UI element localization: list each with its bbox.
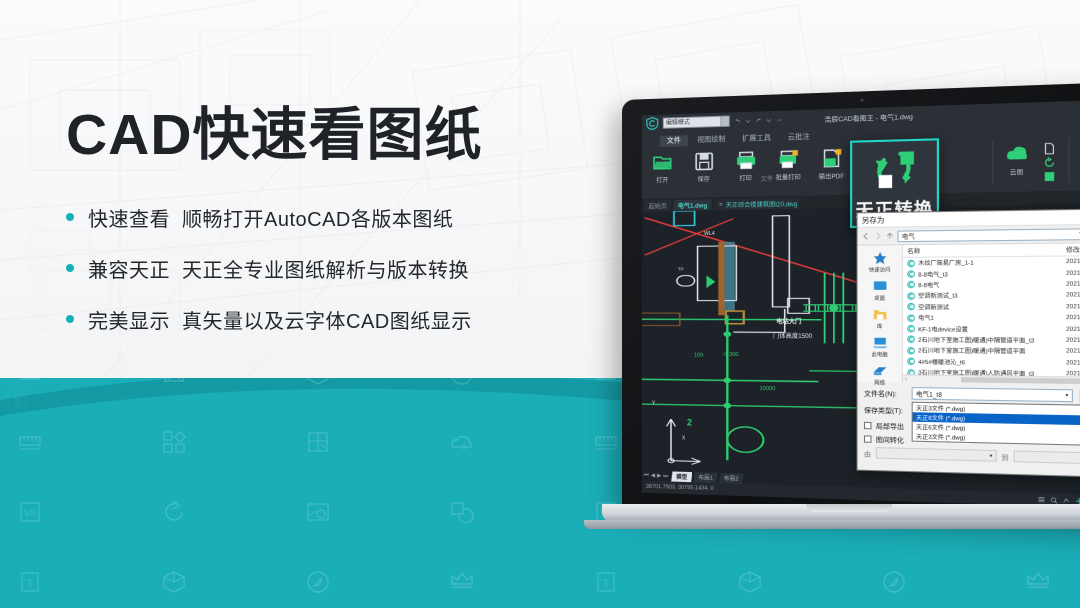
bullet-dot-icon (66, 264, 74, 272)
file-name: KF-1电device设置 (918, 325, 1066, 334)
grid-icon[interactable] (1037, 496, 1045, 504)
polyline-icon[interactable] (1063, 496, 1071, 504)
file-name: 8-8电气_t3 (918, 269, 1066, 278)
table-row[interactable]: 空调新测试_t3 2021/4/6 14:45 (903, 290, 1080, 301)
dialog-nav-row: 电气 ▾ (858, 224, 1080, 244)
sidebar-library-label: 库 (877, 323, 882, 330)
redo-icon[interactable] (755, 117, 761, 123)
sidebar-item-network[interactable]: 网络 (858, 363, 902, 387)
file-name: 电气1 (918, 314, 1066, 323)
layout-tab-2[interactable]: 布局2 (719, 473, 744, 484)
sidebar-item-library[interactable]: 库 (858, 307, 902, 330)
file-name: 4#5#楼暖池沁_t6 (918, 357, 1066, 367)
sidebar-this-pc-label: 此电脑 (871, 351, 887, 358)
filename-value: 电气1_t8 (916, 389, 942, 399)
filename-input[interactable]: 电气1_t8 ▾ (912, 387, 1073, 402)
chevron-down-icon[interactable]: ▾ (990, 453, 993, 459)
file-date: 2021/3/22 17:06 (1066, 349, 1080, 356)
cloud-small-buttons[interactable] (1040, 138, 1059, 183)
dwg-file-icon (907, 281, 915, 288)
bullet-dot-icon (66, 213, 74, 221)
undo-caret-icon[interactable] (745, 117, 751, 123)
save-disk-icon (692, 151, 714, 173)
tab-start-page-label: 起始页 (649, 201, 667, 210)
more-icon[interactable] (776, 116, 782, 122)
range-from-label: 由 (864, 447, 871, 458)
file-name: 空调新测试_t3 (918, 291, 1066, 300)
dialog-title: 另存为 (862, 215, 885, 226)
file-name: 8-8电气 (918, 280, 1066, 289)
forward-icon[interactable] (874, 232, 883, 240)
list-item: 快速查看 顺畅打开AutoCAD各版本图纸 (66, 203, 586, 232)
ribbon-group-window: 窗口转换 窗口全部关闭 (1068, 134, 1080, 182)
dialog-sidebar[interactable]: 快速访问 桌面 库 (858, 245, 903, 382)
filetype-dropdown[interactable]: 天正3文件 (*.dwg) 天正8文件 (*.dwg) 天正6文件 (*.dwg… (912, 402, 1080, 446)
laptop-lid: 编辑模式 浩辰CAD看图王 - 电气1.dwg 文件 视图 (622, 82, 1080, 526)
convert-label: 图间转化 (876, 434, 904, 445)
list-item: 完美显示 真矢量以及云字体CAD图纸显示 (66, 305, 586, 334)
svg-text:T: T (14, 395, 21, 407)
laptop-foot (584, 520, 1080, 529)
table-row[interactable]: 空调新测试 2021/4/6 14:43 (903, 301, 1080, 312)
library-folder-icon (872, 307, 887, 322)
file-name: 空调新测试 (918, 303, 1066, 312)
sidebar-item-this-pc[interactable]: 此电脑 (858, 335, 902, 358)
filetype-label: 保存类型(T): (864, 404, 912, 415)
batch-print-icon (777, 148, 800, 170)
file-list[interactable]: 名称 修改日期 木纹厂简易厂房_1-1 2021/5/8 13:27 (903, 243, 1080, 386)
excel-icon[interactable] (1043, 171, 1056, 183)
quick-access-toolbar[interactable] (735, 116, 783, 124)
dwg-file-icon (907, 303, 915, 310)
file-date: 2021/4/9 8:41 (1066, 270, 1080, 277)
table-row[interactable]: 电气1 2021/4/1 18:14 (903, 312, 1080, 324)
doc-icon[interactable] (1043, 143, 1056, 155)
list-item: 兼容天正 天正全专业图纸解析与版本转换 (66, 254, 586, 283)
sidebar-network-label: 网络 (874, 379, 885, 386)
dwg-file-icon (907, 314, 915, 321)
file-date: 2021/5/8 13:27 (1066, 258, 1080, 265)
sidebar-desktop-label: 桌面 (874, 295, 885, 302)
checkbox-icon[interactable] (864, 421, 872, 428)
file-name: 2石川地下室施工图)暖通)中隔管道平面 (918, 346, 1066, 356)
file-name: 木纹厂简易厂房_1-1 (918, 258, 1066, 268)
tab-tianzheng-building[interactable]: ✕ 天正综合楼建筑图t20.dwg (713, 197, 802, 210)
feature-lead: 完美显示 (88, 305, 170, 334)
undo-icon[interactable] (735, 118, 741, 124)
cloud-button[interactable]: 云图 (993, 139, 1039, 184)
tab-dianqi1[interactable]: 电气1.dwg (673, 199, 712, 211)
table-row[interactable]: 木纹厂简易厂房_1-1 2021/5/8 13:27 (903, 256, 1080, 269)
chevron-down-icon[interactable]: ▾ (1065, 392, 1068, 399)
file-name: 2石川地下室施工图)暖通)中隔管道平面_t3 (918, 335, 1066, 344)
webcam-icon (860, 99, 863, 102)
coordinates-readout: 38701.7903, 30795.1434, 0 (646, 484, 714, 492)
ribbon-group-cloud: 云图 (992, 138, 1059, 183)
export-pdf-icon (820, 147, 843, 169)
dwg-file-icon (907, 347, 915, 354)
file-date: 2021/3/23 13:59 (1066, 326, 1080, 333)
dwg-file-icon (907, 336, 915, 343)
feature-lead: 快速查看 (88, 203, 170, 232)
menu-item-file[interactable]: 文件 (660, 135, 688, 147)
range-to-label: 到 (1001, 451, 1008, 462)
printer-icon (734, 149, 757, 171)
marketing-copy: CAD快速看图纸 快速查看 顺畅打开AutoCAD各版本图纸 兼容天正 天正全专… (66, 104, 586, 356)
feature-lead: 兼容天正 (88, 254, 170, 283)
feature-text: 顺畅打开AutoCAD各版本图纸 (182, 203, 453, 232)
file-date: 2021/4/6 14:45 (1066, 292, 1080, 299)
feature-text: 天正全专业图纸解析与版本转换 (182, 254, 469, 283)
address-bar[interactable]: 电气 ▾ (897, 228, 1080, 242)
bullet-dot-icon (66, 315, 74, 323)
scrollbar-thumb[interactable] (961, 377, 1080, 384)
sidebar-item-desktop[interactable]: 桌面 (858, 279, 902, 302)
dwg-file-icon (907, 270, 915, 277)
redo-caret-icon[interactable] (766, 117, 772, 123)
feature-text: 真矢量以及云字体CAD图纸显示 (182, 305, 472, 334)
save-as-dialog[interactable]: 另存为 — ▫ ✕ 电气 (856, 208, 1080, 479)
dwg-file-icon (907, 292, 915, 299)
cloud-label: 云图 (1010, 167, 1024, 177)
zoom-icon[interactable] (1050, 496, 1058, 504)
range-from-input[interactable]: ▾ (875, 447, 997, 462)
sidebar-item-quick-access[interactable]: 快速访问 (858, 250, 902, 273)
column-date[interactable]: 修改日期 (1066, 244, 1080, 254)
sidebar-quick-access-label: 快速访问 (869, 266, 891, 273)
desktop-icon (872, 279, 887, 294)
layout-tab-1[interactable]: 布局1 (693, 472, 717, 483)
scroll-left-icon[interactable]: ‹ (905, 376, 907, 382)
next-tab-icon[interactable]: ▶ (657, 473, 661, 480)
address-value: 电气 (902, 231, 915, 241)
tab-tianzheng-building-label: 天正综合楼建筑图t20.dwg (726, 198, 798, 208)
file-list-header: 名称 修改日期 (903, 243, 1080, 258)
layout-tab-model[interactable]: 模型 (671, 471, 692, 482)
network-icon (872, 364, 887, 379)
first-tab-icon[interactable]: ⏮ (644, 472, 649, 479)
batch-export-label: 局部导出 (876, 420, 904, 431)
checkbox-icon[interactable] (864, 435, 872, 442)
up-icon[interactable] (886, 232, 895, 240)
banner-stage: VS T (0, 0, 1080, 608)
cad-application: 编辑模式 浩辰CAD看图王 - 电气1.dwg 文件 视图 (642, 100, 1080, 509)
back-icon[interactable] (862, 232, 871, 240)
prev-tab-icon[interactable]: ◀ (651, 472, 655, 479)
filename-row: 文件名(N): 电气1_t8 ▾ 保存 (864, 386, 1080, 403)
file-rows[interactable]: 木纹厂简易厂房_1-1 2021/5/8 13:27 8-8电气_t3 2021… (903, 256, 1080, 377)
file-date: 2021/3/22 17:07 (1066, 337, 1080, 344)
app-logo-icon (646, 117, 659, 130)
table-row[interactable]: 8-8电气 2021/4/9 8:39 (903, 279, 1080, 291)
dwg-file-icon (907, 325, 915, 332)
tab-start-page[interactable]: 起始页 (644, 200, 672, 212)
laptop-notch (806, 504, 892, 512)
laptop-mockup: 编辑模式 浩辰CAD看图王 - 电气1.dwg 文件 视图 (610, 100, 1080, 540)
laptop-screen: 编辑模式 浩辰CAD看图王 - 电气1.dwg 文件 视图 (642, 100, 1080, 509)
close-icon[interactable]: ✕ (718, 201, 723, 208)
page-title: CAD快速看图纸 (66, 104, 586, 167)
star-icon (872, 251, 887, 266)
folder-open-icon (651, 152, 673, 174)
filename-label: 文件名(N): (864, 387, 912, 398)
file-date: 2021/4/1 18:14 (1066, 315, 1080, 322)
dialog-body: 快速访问 桌面 库 (858, 242, 1080, 386)
last-tab-icon[interactable]: ⏭ (663, 473, 668, 480)
column-name[interactable]: 名称 (907, 245, 1066, 256)
convert-arrows-icon (869, 147, 919, 192)
dwg-file-icon (907, 358, 915, 365)
layout-nav-buttons[interactable]: ⏮ ◀ ▶ ⏭ (644, 472, 668, 480)
table-row[interactable]: 8-8电气_t3 2021/4/9 8:41 (903, 267, 1080, 279)
file-date: 2021/4/6 14:43 (1066, 304, 1080, 311)
feature-list: 快速查看 顺畅打开AutoCAD各版本图纸 兼容天正 天正全专业图纸解析与版本转… (66, 203, 586, 334)
this-pc-icon (872, 335, 887, 350)
file-date: 2021/3/22 16:59 (1066, 360, 1080, 367)
file-date: 2021/4/9 8:39 (1066, 281, 1080, 288)
cloud-icon (1004, 142, 1029, 165)
dwg-file-icon (907, 260, 915, 267)
edit-mode-selector[interactable]: 编辑模式 (663, 115, 730, 128)
cloud-sync-icon[interactable] (1043, 157, 1056, 169)
range-row: 由 ▾ 到 ▾ (864, 447, 1080, 466)
tab-dianqi1-label: 电气1.dwg (678, 200, 707, 210)
range-to-input[interactable]: ▾ (1013, 450, 1080, 465)
